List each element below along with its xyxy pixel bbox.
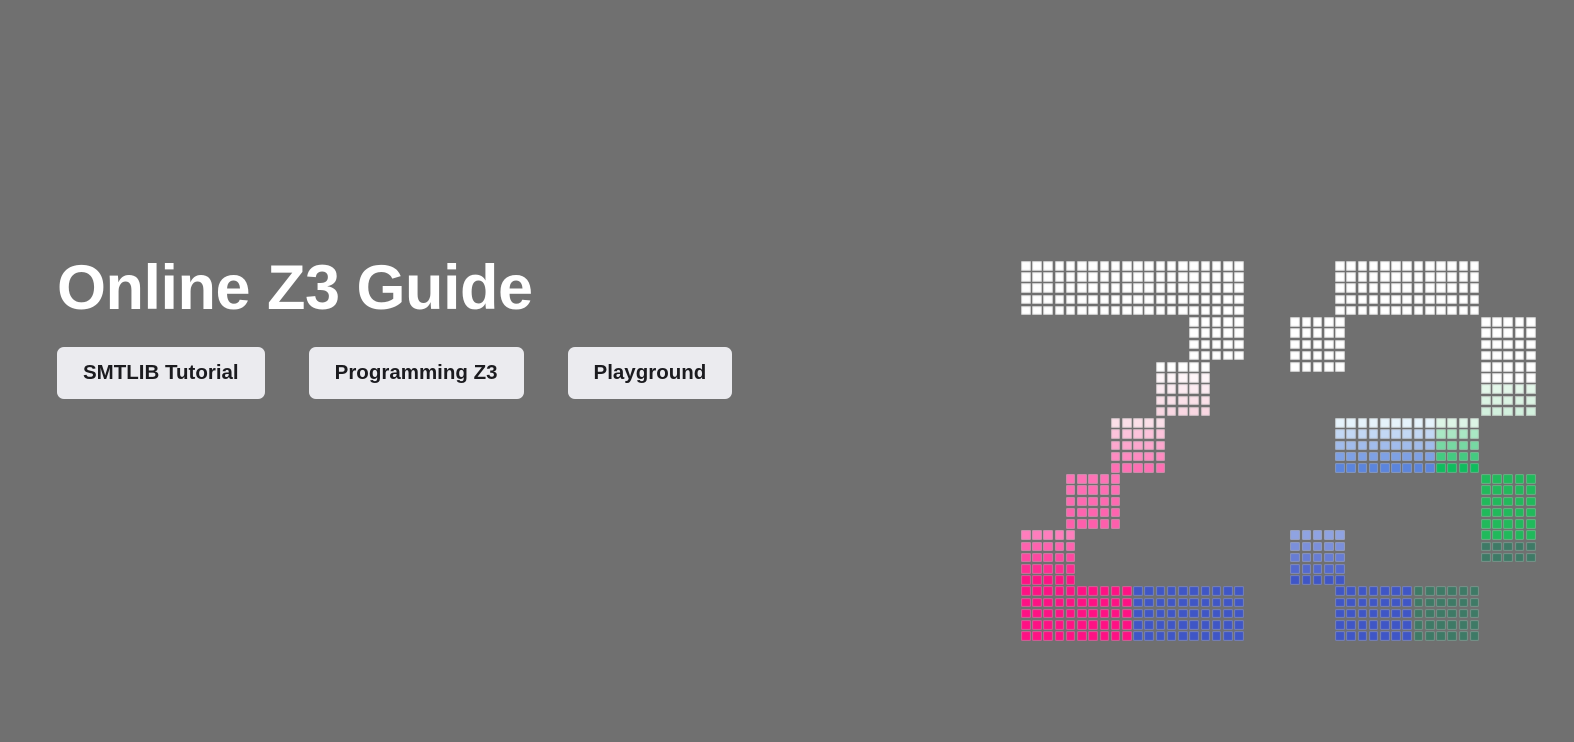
logo-pixel bbox=[1189, 384, 1199, 394]
logo-pixel bbox=[1144, 441, 1154, 451]
logo-pixel bbox=[1055, 586, 1065, 596]
logo-pixel bbox=[1133, 306, 1143, 316]
logo-pixel bbox=[1459, 429, 1469, 439]
logo-pixel bbox=[1470, 429, 1480, 439]
logo-pixel bbox=[1391, 261, 1401, 271]
logo-pixel bbox=[1133, 598, 1143, 608]
logo-pixel bbox=[1066, 485, 1076, 495]
logo-pixel bbox=[1178, 598, 1188, 608]
logo-pixel bbox=[1212, 340, 1222, 350]
logo-pixel bbox=[1156, 429, 1166, 439]
logo-pixel bbox=[1436, 631, 1446, 641]
logo-pixel bbox=[1201, 598, 1211, 608]
landing-page: Online Z3 Guide SMTLIB TutorialProgrammi… bbox=[0, 0, 1574, 742]
logo-pixel bbox=[1335, 295, 1345, 305]
logo-pixel bbox=[1133, 429, 1143, 439]
logo-pixel bbox=[1380, 452, 1390, 462]
programming-z3-button[interactable]: Programming Z3 bbox=[309, 347, 524, 399]
logo-pixel bbox=[1402, 272, 1412, 282]
logo-pixel bbox=[1144, 272, 1154, 282]
logo-pixel bbox=[1436, 272, 1446, 282]
logo-pixel bbox=[1223, 598, 1233, 608]
logo-pixel bbox=[1313, 317, 1323, 327]
logo-pixel bbox=[1358, 620, 1368, 630]
logo-pixel bbox=[1515, 485, 1525, 495]
logo-pixel bbox=[1156, 452, 1166, 462]
logo-pixel bbox=[1391, 609, 1401, 619]
logo-pixel bbox=[1302, 542, 1312, 552]
logo-pixel bbox=[1391, 620, 1401, 630]
logo-pixel bbox=[1346, 620, 1356, 630]
logo-pixel bbox=[1178, 407, 1188, 417]
logo-pixel bbox=[1144, 586, 1154, 596]
logo-pixel bbox=[1032, 295, 1042, 305]
logo-pixel bbox=[1335, 429, 1345, 439]
logo-pixel bbox=[1043, 261, 1053, 271]
logo-pixel bbox=[1425, 598, 1435, 608]
logo-pixel bbox=[1055, 261, 1065, 271]
logo-pixel bbox=[1122, 463, 1132, 473]
logo-pixel bbox=[1459, 295, 1469, 305]
logo-pixel bbox=[1425, 295, 1435, 305]
logo-pixel bbox=[1492, 317, 1502, 327]
logo-pixel bbox=[1526, 373, 1536, 383]
logo-pixel bbox=[1481, 485, 1491, 495]
logo-pixel bbox=[1122, 441, 1132, 451]
logo-pixel bbox=[1369, 586, 1379, 596]
logo-pixel bbox=[1066, 474, 1076, 484]
logo-pixel bbox=[1481, 542, 1491, 552]
logo-pixel bbox=[1481, 384, 1491, 394]
logo-pixel bbox=[1492, 362, 1502, 372]
logo-pixel bbox=[1290, 362, 1300, 372]
logo-pixel bbox=[1189, 362, 1199, 372]
logo-pixel bbox=[1346, 261, 1356, 271]
logo-pixel bbox=[1369, 306, 1379, 316]
logo-pixel bbox=[1391, 598, 1401, 608]
logo-pixel bbox=[1503, 485, 1513, 495]
logo-pixel bbox=[1414, 306, 1424, 316]
logo-pixel bbox=[1077, 474, 1087, 484]
logo-pixel bbox=[1313, 340, 1323, 350]
logo-pixel bbox=[1481, 340, 1491, 350]
logo-pixel bbox=[1212, 598, 1222, 608]
logo-pixel bbox=[1313, 362, 1323, 372]
logo-pixel bbox=[1167, 609, 1177, 619]
logo-pixel bbox=[1358, 586, 1368, 596]
logo-pixel bbox=[1088, 631, 1098, 641]
logo-pixel bbox=[1021, 575, 1031, 585]
logo-pixel bbox=[1021, 586, 1031, 596]
logo-pixel bbox=[1481, 351, 1491, 361]
logo-pixel bbox=[1391, 631, 1401, 641]
logo-pixel bbox=[1391, 295, 1401, 305]
logo-pixel bbox=[1503, 497, 1513, 507]
logo-pixel bbox=[1122, 306, 1132, 316]
logo-pixel bbox=[1335, 586, 1345, 596]
logo-pixel bbox=[1133, 452, 1143, 462]
logo-pixel bbox=[1492, 396, 1502, 406]
logo-pixel bbox=[1470, 306, 1480, 316]
logo-pixel bbox=[1032, 631, 1042, 641]
logo-pixel bbox=[1212, 631, 1222, 641]
logo-pixel bbox=[1111, 609, 1121, 619]
logo-pixel bbox=[1234, 340, 1244, 350]
logo-pixel bbox=[1088, 508, 1098, 518]
logo-pixel bbox=[1133, 463, 1143, 473]
logo-pixel bbox=[1503, 519, 1513, 529]
logo-pixel bbox=[1055, 542, 1065, 552]
logo-pixel bbox=[1212, 261, 1222, 271]
logo-pixel bbox=[1032, 575, 1042, 585]
logo-pixel bbox=[1492, 384, 1502, 394]
logo-pixel bbox=[1234, 586, 1244, 596]
logo-pixel bbox=[1167, 407, 1177, 417]
logo-pixel bbox=[1481, 317, 1491, 327]
logo-pixel bbox=[1043, 295, 1053, 305]
logo-pixel bbox=[1077, 283, 1087, 293]
logo-pixel bbox=[1111, 283, 1121, 293]
logo-pixel bbox=[1335, 564, 1345, 574]
logo-pixel bbox=[1515, 328, 1525, 338]
logo-pixel bbox=[1212, 351, 1222, 361]
logo-pixel bbox=[1358, 283, 1368, 293]
logo-pixel bbox=[1324, 328, 1334, 338]
logo-pixel bbox=[1223, 272, 1233, 282]
logo-pixel bbox=[1167, 362, 1177, 372]
logo-pixel bbox=[1189, 407, 1199, 417]
logo-pixel bbox=[1447, 463, 1457, 473]
logo-pixel bbox=[1111, 261, 1121, 271]
logo-pixel bbox=[1043, 306, 1053, 316]
logo-pixel bbox=[1335, 452, 1345, 462]
logo-pixel bbox=[1447, 631, 1457, 641]
logo-pixel bbox=[1032, 586, 1042, 596]
logo-pixel bbox=[1380, 429, 1390, 439]
logo-pixel bbox=[1324, 542, 1334, 552]
logo-pixel bbox=[1515, 508, 1525, 518]
logo-pixel bbox=[1459, 418, 1469, 428]
logo-pixel bbox=[1526, 340, 1536, 350]
logo-pixel bbox=[1100, 485, 1110, 495]
logo-pixel bbox=[1111, 586, 1121, 596]
logo-pixel bbox=[1369, 463, 1379, 473]
logo-pixel bbox=[1156, 631, 1166, 641]
logo-pixel bbox=[1436, 620, 1446, 630]
logo-pixel bbox=[1414, 441, 1424, 451]
logo-pixel bbox=[1335, 418, 1345, 428]
logo-pixel bbox=[1447, 609, 1457, 619]
logo-pixel bbox=[1313, 564, 1323, 574]
logo-pixel bbox=[1100, 586, 1110, 596]
logo-pixel bbox=[1436, 429, 1446, 439]
logo-pixel bbox=[1100, 508, 1110, 518]
logo-pixel bbox=[1077, 631, 1087, 641]
logo-pixel bbox=[1201, 586, 1211, 596]
logo-pixel bbox=[1346, 429, 1356, 439]
logo-pixel bbox=[1302, 564, 1312, 574]
logo-pixel bbox=[1425, 283, 1435, 293]
logo-pixel bbox=[1066, 575, 1076, 585]
logo-pixel bbox=[1380, 631, 1390, 641]
logo-pixel bbox=[1515, 530, 1525, 540]
logo-pixel bbox=[1335, 542, 1345, 552]
logo-pixel bbox=[1492, 530, 1502, 540]
logo-pixel bbox=[1402, 598, 1412, 608]
logo-pixel bbox=[1526, 485, 1536, 495]
logo-pixel bbox=[1470, 272, 1480, 282]
logo-pixel bbox=[1425, 261, 1435, 271]
logo-pixel bbox=[1436, 452, 1446, 462]
logo-pixel bbox=[1223, 586, 1233, 596]
logo-pixel bbox=[1526, 362, 1536, 372]
logo-pixel bbox=[1447, 452, 1457, 462]
logo-pixel bbox=[1201, 407, 1211, 417]
logo-pixel bbox=[1201, 306, 1211, 316]
logo-pixel bbox=[1380, 598, 1390, 608]
logo-pixel bbox=[1391, 283, 1401, 293]
logo-pixel bbox=[1492, 508, 1502, 518]
logo-pixel bbox=[1402, 609, 1412, 619]
logo-pixel bbox=[1380, 261, 1390, 271]
logo-pixel bbox=[1302, 575, 1312, 585]
logo-pixel bbox=[1021, 553, 1031, 563]
primary-nav-buttons: SMTLIB TutorialProgramming Z3Playground bbox=[57, 347, 957, 399]
logo-pixel bbox=[1425, 429, 1435, 439]
logo-pixel bbox=[1425, 609, 1435, 619]
logo-pixel bbox=[1234, 295, 1244, 305]
logo-pixel bbox=[1189, 295, 1199, 305]
logo-pixel bbox=[1324, 351, 1334, 361]
logo-pixel bbox=[1459, 441, 1469, 451]
logo-pixel bbox=[1447, 598, 1457, 608]
logo-pixel bbox=[1515, 340, 1525, 350]
logo-pixel bbox=[1335, 441, 1345, 451]
logo-pixel bbox=[1178, 631, 1188, 641]
logo-pixel bbox=[1189, 306, 1199, 316]
logo-pixel bbox=[1043, 564, 1053, 574]
logo-pixel bbox=[1201, 609, 1211, 619]
logo-pixel bbox=[1021, 295, 1031, 305]
logo-pixel bbox=[1503, 340, 1513, 350]
logo-pixel bbox=[1313, 351, 1323, 361]
logo-pixel bbox=[1111, 497, 1121, 507]
logo-pixel bbox=[1515, 373, 1525, 383]
logo-pixel bbox=[1503, 474, 1513, 484]
logo-pixel bbox=[1066, 508, 1076, 518]
logo-pixel bbox=[1402, 620, 1412, 630]
logo-pixel bbox=[1144, 609, 1154, 619]
logo-pixel bbox=[1055, 575, 1065, 585]
logo-pixel bbox=[1212, 306, 1222, 316]
logo-pixel bbox=[1167, 295, 1177, 305]
logo-pixel bbox=[1144, 631, 1154, 641]
logo-pixel bbox=[1066, 272, 1076, 282]
logo-pixel bbox=[1234, 598, 1244, 608]
logo-pixel bbox=[1290, 542, 1300, 552]
logo-pixel bbox=[1055, 295, 1065, 305]
logo-pixel bbox=[1100, 620, 1110, 630]
logo-pixel bbox=[1526, 328, 1536, 338]
logo-pixel bbox=[1021, 564, 1031, 574]
z3-logo bbox=[1021, 261, 1521, 591]
logo-pixel bbox=[1055, 283, 1065, 293]
logo-pixel bbox=[1369, 609, 1379, 619]
logo-pixel bbox=[1346, 631, 1356, 641]
playground-button[interactable]: Playground bbox=[568, 347, 733, 399]
logo-pixel bbox=[1212, 272, 1222, 282]
logo-pixel bbox=[1212, 317, 1222, 327]
logo-pixel bbox=[1425, 620, 1435, 630]
logo-pixel bbox=[1346, 586, 1356, 596]
logo-pixel bbox=[1223, 340, 1233, 350]
logo-pixel bbox=[1335, 620, 1345, 630]
logo-pixel bbox=[1402, 429, 1412, 439]
logo-pixel bbox=[1492, 485, 1502, 495]
logo-pixel bbox=[1100, 609, 1110, 619]
logo-pixel bbox=[1358, 418, 1368, 428]
logo-pixel bbox=[1189, 272, 1199, 282]
logo-pixel bbox=[1234, 351, 1244, 361]
logo-pixel bbox=[1178, 609, 1188, 619]
logo-pixel bbox=[1470, 609, 1480, 619]
logo-pixel bbox=[1178, 295, 1188, 305]
logo-pixel bbox=[1201, 295, 1211, 305]
logo-pixel bbox=[1212, 283, 1222, 293]
logo-pixel bbox=[1111, 631, 1121, 641]
logo-pixel bbox=[1100, 261, 1110, 271]
logo-pixel bbox=[1470, 418, 1480, 428]
logo-pixel bbox=[1066, 306, 1076, 316]
logo-pixel bbox=[1178, 306, 1188, 316]
logo-pixel bbox=[1346, 295, 1356, 305]
logo-pixel bbox=[1481, 362, 1491, 372]
logo-pixel bbox=[1492, 407, 1502, 417]
logo-pixel bbox=[1492, 340, 1502, 350]
logo-pixel bbox=[1021, 631, 1031, 641]
logo-pixel bbox=[1133, 441, 1143, 451]
logo-pixel bbox=[1358, 295, 1368, 305]
logo-pixel bbox=[1100, 631, 1110, 641]
logo-pixel bbox=[1032, 306, 1042, 316]
logo-pixel bbox=[1066, 261, 1076, 271]
logo-pixel bbox=[1055, 598, 1065, 608]
logo-pixel bbox=[1234, 272, 1244, 282]
logo-pixel bbox=[1358, 261, 1368, 271]
logo-pixel bbox=[1526, 542, 1536, 552]
logo-pixel bbox=[1290, 351, 1300, 361]
logo-pixel bbox=[1111, 306, 1121, 316]
logo-pixel bbox=[1212, 586, 1222, 596]
logo-pixel bbox=[1302, 362, 1312, 372]
logo-pixel bbox=[1223, 283, 1233, 293]
logo-pixel bbox=[1459, 586, 1469, 596]
logo-pixel bbox=[1144, 429, 1154, 439]
logo-pixel bbox=[1144, 598, 1154, 608]
logo-pixel bbox=[1088, 519, 1098, 529]
logo-pixel bbox=[1380, 418, 1390, 428]
logo-pixel bbox=[1032, 272, 1042, 282]
logo-pixel bbox=[1391, 418, 1401, 428]
logo-pixel bbox=[1111, 463, 1121, 473]
logo-pixel bbox=[1526, 497, 1536, 507]
logo-pixel bbox=[1122, 261, 1132, 271]
logo-pixel bbox=[1043, 542, 1053, 552]
logo-pixel bbox=[1212, 609, 1222, 619]
logo-pixel bbox=[1100, 283, 1110, 293]
logo-pixel bbox=[1201, 261, 1211, 271]
logo-pixel bbox=[1503, 373, 1513, 383]
logo-pixel bbox=[1234, 620, 1244, 630]
logo-pixel bbox=[1459, 620, 1469, 630]
logo-pixel bbox=[1302, 351, 1312, 361]
logo-pixel bbox=[1526, 407, 1536, 417]
logo-pixel bbox=[1369, 452, 1379, 462]
logo-pixel bbox=[1100, 474, 1110, 484]
logo-pixel bbox=[1358, 598, 1368, 608]
logo-pixel bbox=[1515, 519, 1525, 529]
logo-pixel bbox=[1032, 598, 1042, 608]
logo-pixel bbox=[1324, 575, 1334, 585]
logo-pixel bbox=[1447, 261, 1457, 271]
logo-pixel bbox=[1156, 396, 1166, 406]
logo-pixel bbox=[1470, 463, 1480, 473]
logo-pixel bbox=[1470, 441, 1480, 451]
logo-pixel bbox=[1077, 609, 1087, 619]
logo-pixel bbox=[1503, 530, 1513, 540]
logo-pixel bbox=[1414, 631, 1424, 641]
logo-pixel bbox=[1380, 272, 1390, 282]
logo-pixel bbox=[1414, 283, 1424, 293]
logo-pixel bbox=[1447, 306, 1457, 316]
logo-pixel bbox=[1156, 306, 1166, 316]
logo-pixel bbox=[1167, 620, 1177, 630]
logo-pixel bbox=[1414, 620, 1424, 630]
smtlib-tutorial-button[interactable]: SMTLIB Tutorial bbox=[57, 347, 265, 399]
logo-pixel bbox=[1144, 418, 1154, 428]
logo-pixel bbox=[1066, 497, 1076, 507]
logo-pixel bbox=[1414, 598, 1424, 608]
logo-pixel bbox=[1021, 306, 1031, 316]
logo-pixel bbox=[1290, 328, 1300, 338]
logo-pixel bbox=[1100, 306, 1110, 316]
logo-pixel bbox=[1369, 598, 1379, 608]
logo-pixel bbox=[1167, 586, 1177, 596]
logo-pixel bbox=[1346, 283, 1356, 293]
logo-pixel bbox=[1156, 586, 1166, 596]
logo-pixel bbox=[1503, 351, 1513, 361]
logo-pixel bbox=[1369, 429, 1379, 439]
logo-pixel bbox=[1503, 407, 1513, 417]
logo-pixel bbox=[1358, 272, 1368, 282]
logo-pixel bbox=[1335, 306, 1345, 316]
logo-pixel bbox=[1436, 441, 1446, 451]
logo-pixel bbox=[1088, 474, 1098, 484]
logo-pixel bbox=[1021, 530, 1031, 540]
logo-pixel bbox=[1369, 295, 1379, 305]
logo-pixel bbox=[1189, 328, 1199, 338]
logo-pixel bbox=[1425, 306, 1435, 316]
logo-pixel bbox=[1402, 463, 1412, 473]
logo-pixel bbox=[1100, 497, 1110, 507]
logo-pixel bbox=[1111, 429, 1121, 439]
logo-pixel bbox=[1414, 429, 1424, 439]
logo-pixel bbox=[1144, 463, 1154, 473]
logo-pixel bbox=[1077, 508, 1087, 518]
logo-pixel bbox=[1481, 407, 1491, 417]
logo-pixel bbox=[1302, 530, 1312, 540]
logo-pixel bbox=[1380, 441, 1390, 451]
